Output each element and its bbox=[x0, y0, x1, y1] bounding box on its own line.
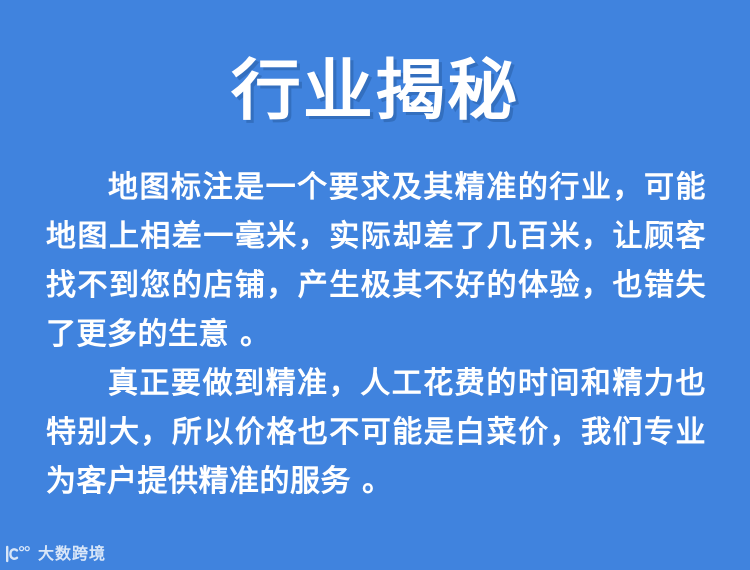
poster-canvas: 行业揭秘 地图标注是一个要求及其精准的行业，可能地图上相差一毫米，实际却差了几百… bbox=[0, 0, 750, 570]
title-container: 行业揭秘 bbox=[0, 52, 750, 130]
watermark-label: 大数跨境 bbox=[38, 544, 106, 564]
body-copy: 地图标注是一个要求及其精准的行业，可能地图上相差一毫米，实际却差了几百米，让顾客… bbox=[46, 163, 706, 506]
paragraph-2: 真正要做到精准，人工花费的时间和精力也特别大，所以价格也不可能是白菜价，我们专业… bbox=[46, 359, 706, 506]
page-title: 行业揭秘 bbox=[231, 52, 519, 130]
watermark: 大数跨境 bbox=[4, 544, 106, 564]
dashu-kuajing-logo-icon bbox=[4, 544, 32, 564]
paragraph-1: 地图标注是一个要求及其精准的行业，可能地图上相差一毫米，实际却差了几百米，让顾客… bbox=[46, 163, 706, 359]
